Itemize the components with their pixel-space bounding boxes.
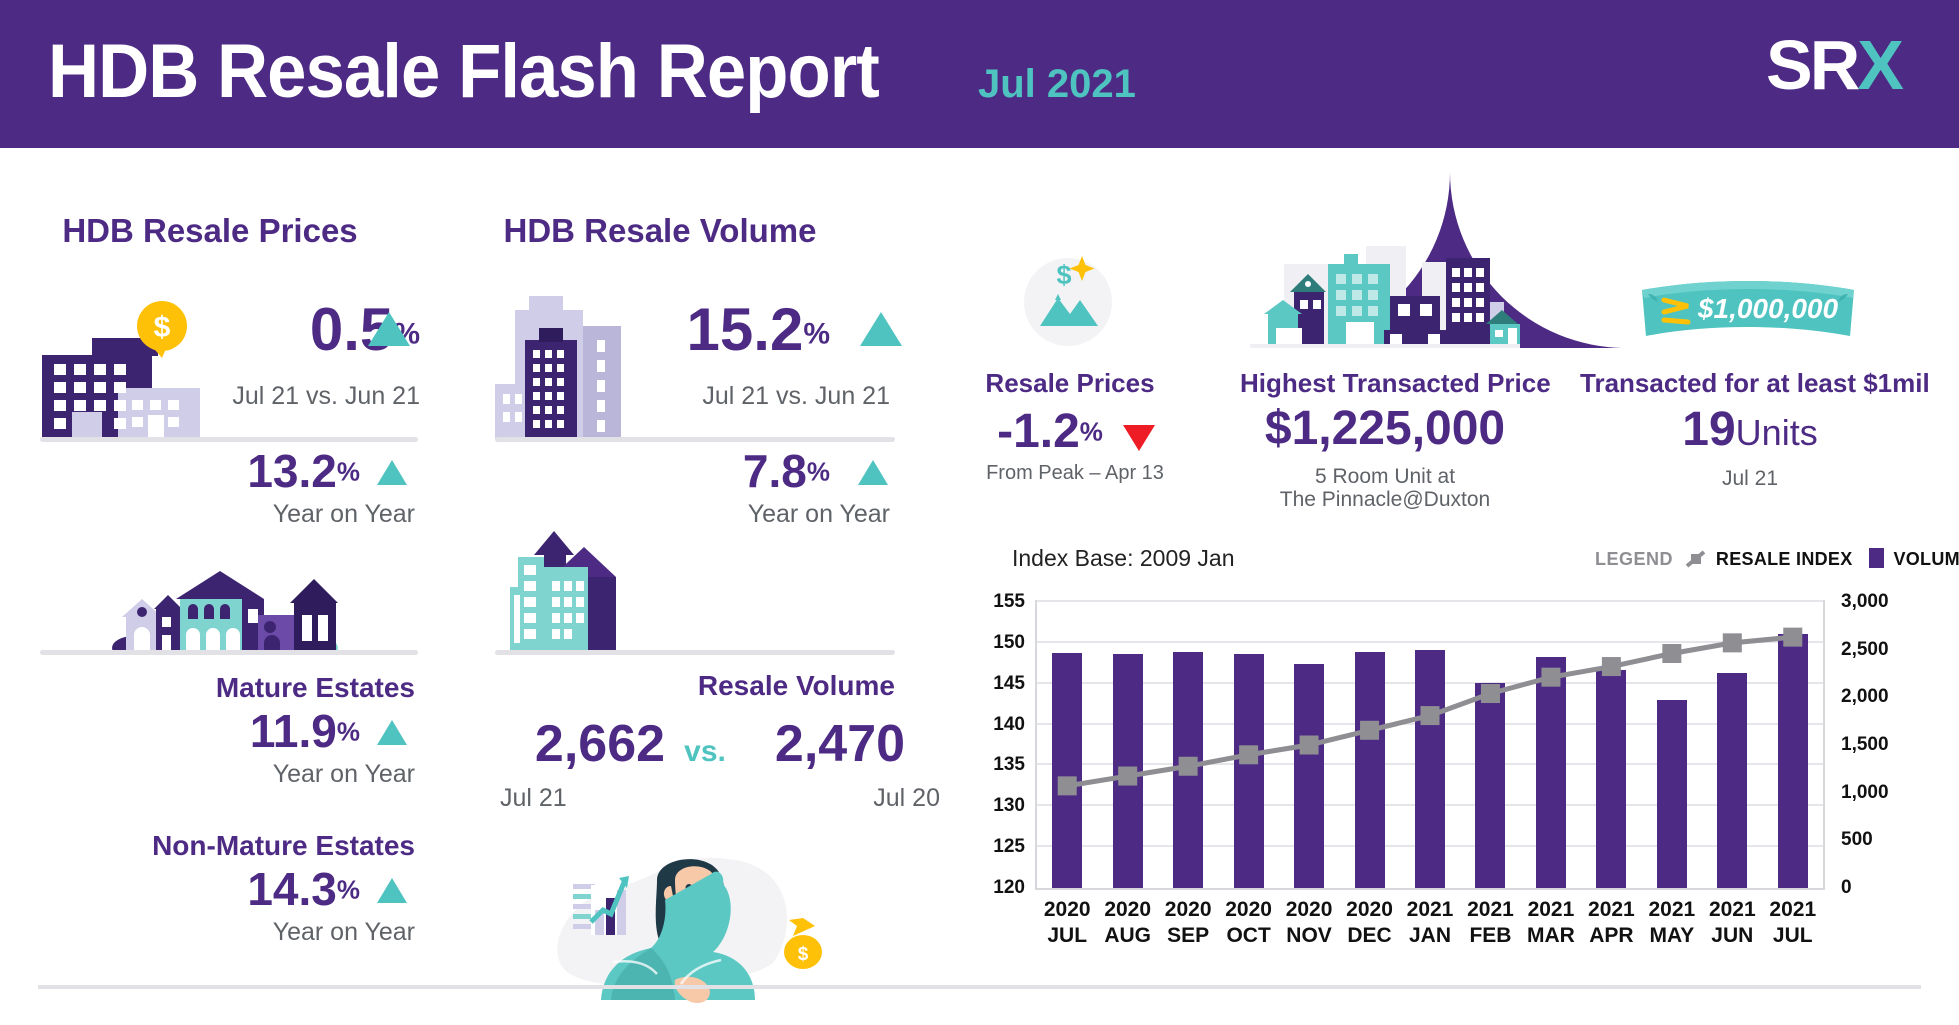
page-subtitle: Jul 2021: [978, 62, 1136, 107]
chart-line-marker: [1662, 644, 1681, 663]
chart-y-tick-left: 140: [977, 714, 1025, 736]
volume-divider-1: [495, 437, 895, 442]
card-resale-prices-title: Resale Prices: [975, 368, 1165, 399]
volume-yoy-value: 7.8: [743, 445, 807, 497]
non-mature-estates-label: Non-Mature Estates: [110, 830, 415, 862]
chart-legend-bar-label: VOLUME: [1893, 549, 1959, 569]
resale-chart: [1035, 600, 1825, 890]
chart-line-marker: [1723, 633, 1742, 652]
card-resale-prices-stat: -1.2%: [975, 408, 1125, 456]
tall-houses-icon: [500, 525, 630, 655]
volume-yoy-trend-up-icon: [858, 460, 888, 485]
chart-x-tick: 2021JUL: [1756, 897, 1830, 950]
volume-primary-trend-up-icon: [860, 312, 902, 346]
card-highest-price-title: Highest Transacted Price: [1240, 368, 1530, 399]
chart-line-marker: [1421, 706, 1440, 725]
prices-column-title: HDB Resale Prices: [40, 212, 380, 250]
svg-text:$: $: [798, 944, 809, 965]
chart-y-tick-right: 3,000: [1841, 591, 1901, 613]
houses-row-icon: [110, 565, 340, 655]
card-million-value: 19: [1682, 403, 1735, 456]
mature-estates-stat: 11.9%: [180, 708, 360, 754]
chart-line-marker: [1118, 767, 1137, 786]
legend-volume-swatch-icon: [1869, 548, 1884, 568]
woman-with-chart-illustration: $: [525, 840, 835, 1020]
page-title: HDB Resale Flash Report: [48, 28, 879, 115]
chart-legend-line-label: RESALE INDEX: [1716, 549, 1853, 569]
resale-volume-previous-period: Jul 20: [790, 784, 940, 813]
chart-line-marker: [1541, 668, 1560, 687]
chart-y-tick-right: 2,000: [1841, 686, 1901, 708]
chart-y-tick-right: 1,000: [1841, 782, 1901, 804]
money-mountain-icon: $: [1018, 248, 1118, 348]
svg-text:$: $: [154, 311, 171, 344]
volume-primary-stat: 15.2%: [600, 300, 830, 360]
volume-yoy-stat: 7.8%: [640, 448, 830, 494]
chart-y-tick-left: 155: [977, 591, 1025, 613]
prices-yoy-caption: Year on Year: [180, 500, 415, 529]
card-resale-prices-caption: From Peak – Apr 13: [975, 462, 1175, 485]
prices-yoy-stat: 13.2%: [180, 448, 360, 494]
card-million-unit: Units: [1736, 412, 1818, 453]
card-resale-prices-percent: %: [1080, 417, 1103, 447]
volume-primary-percent: %: [803, 318, 830, 351]
card-resale-prices-trend-down-icon: [1123, 425, 1155, 451]
chart-y-tick-right: 0: [1841, 877, 1901, 899]
chart-line-marker: [1481, 684, 1500, 703]
chart-y-tick-left: 130: [977, 795, 1025, 817]
chart-legend-title: LEGEND: [1595, 549, 1673, 569]
page-header: HDB Resale Flash Report Jul 2021 SRX: [0, 0, 1959, 148]
volume-yoy-caption: Year on Year: [640, 500, 890, 529]
resale-volume-previous-value: 2,470: [740, 718, 940, 770]
non-mature-estates-stat: 14.3%: [180, 866, 360, 912]
logo-accent-text: X: [1857, 26, 1901, 104]
footer-divider: [38, 985, 1921, 989]
chart-y-tick-right: 2,500: [1841, 639, 1901, 661]
non-mature-estates-caption: Year on Year: [180, 918, 415, 947]
chart-y-tick-right: 500: [1841, 829, 1901, 851]
chart-line-marker: [1058, 776, 1077, 795]
volume-primary-value: 15.2: [687, 296, 804, 363]
prices-primary-trend-up-icon: [368, 312, 410, 346]
card-resale-prices-value: -1.2: [997, 405, 1080, 458]
chart-line-marker: [1179, 757, 1198, 776]
chart-line-marker: [1602, 657, 1621, 676]
legend-line-marker-icon: [1685, 549, 1707, 569]
card-highest-price-value: $1,225,000: [1240, 405, 1530, 453]
volume-divider-2: [495, 650, 895, 655]
non-mature-estates-percent: %: [337, 875, 360, 905]
volume-yoy-percent: %: [807, 457, 830, 487]
prices-yoy-percent: %: [337, 457, 360, 487]
prices-divider-1: [40, 437, 418, 442]
chart-y-tick-left: 135: [977, 754, 1025, 776]
chart-line-series: [1037, 602, 1823, 888]
srx-logo: SRX: [1766, 30, 1901, 100]
mature-estates-trend-up-icon: [377, 720, 407, 745]
prices-yoy-value: 13.2: [247, 445, 337, 497]
card-highest-price-caption-line2: The Pinnacle@Duxton: [1240, 488, 1530, 512]
chart-legend: LEGEND RESALE INDEX VOLUME: [1595, 548, 1959, 570]
chart-y-tick-left: 150: [977, 632, 1025, 654]
infographic-root: HDB Resale Flash Report Jul 2021 SRX HDB…: [0, 0, 1959, 1025]
resale-volume-current-period: Jul 21: [500, 784, 640, 813]
chart-line-marker: [1783, 628, 1802, 647]
prices-yoy-trend-up-icon: [377, 460, 407, 485]
mature-estates-value: 11.9: [250, 705, 337, 757]
svg-text:$1,000,000: $1,000,000: [1697, 293, 1839, 324]
chart-y-tick-left: 120: [977, 877, 1025, 899]
logo-main-text: SR: [1766, 26, 1857, 104]
volume-column-title: HDB Resale Volume: [460, 212, 860, 250]
prices-primary-caption: Jul 21 vs. Jun 21: [150, 382, 420, 411]
card-million-title: Transacted for at least $1mil: [1580, 368, 1920, 399]
mature-estates-percent: %: [337, 717, 360, 747]
chart-line-marker: [1300, 736, 1319, 755]
card-highest-price-caption-line1: 5 Room Unit at: [1240, 465, 1530, 489]
chart-index-base-label: Index Base: 2009 Jan: [1012, 545, 1235, 572]
non-mature-estates-value: 14.3: [247, 863, 337, 915]
svg-text:$: $: [1056, 260, 1071, 290]
mature-estates-label: Mature Estates: [140, 672, 415, 704]
cityscape-icon: [1250, 238, 1520, 348]
non-mature-estates-trend-up-icon: [377, 878, 407, 903]
prices-divider-2: [40, 650, 418, 655]
volume-primary-caption: Jul 21 vs. Jun 21: [580, 382, 890, 411]
chart-y-tick-right: 1,500: [1841, 734, 1901, 756]
chart-y-tick-left: 145: [977, 673, 1025, 695]
chart-line-marker: [1360, 721, 1379, 740]
chart-y-tick-left: 125: [977, 836, 1025, 858]
buildings-with-dollar-icon: $: [40, 300, 200, 440]
chart-line-marker: [1239, 745, 1258, 764]
banknote-icon: $1,000,000: [1638, 278, 1858, 346]
card-million-stat: 19Units: [1580, 406, 1920, 454]
mature-estates-caption: Year on Year: [180, 760, 415, 789]
card-million-caption: Jul 21: [1580, 467, 1920, 491]
resale-volume-label: Resale Volume: [620, 670, 895, 702]
